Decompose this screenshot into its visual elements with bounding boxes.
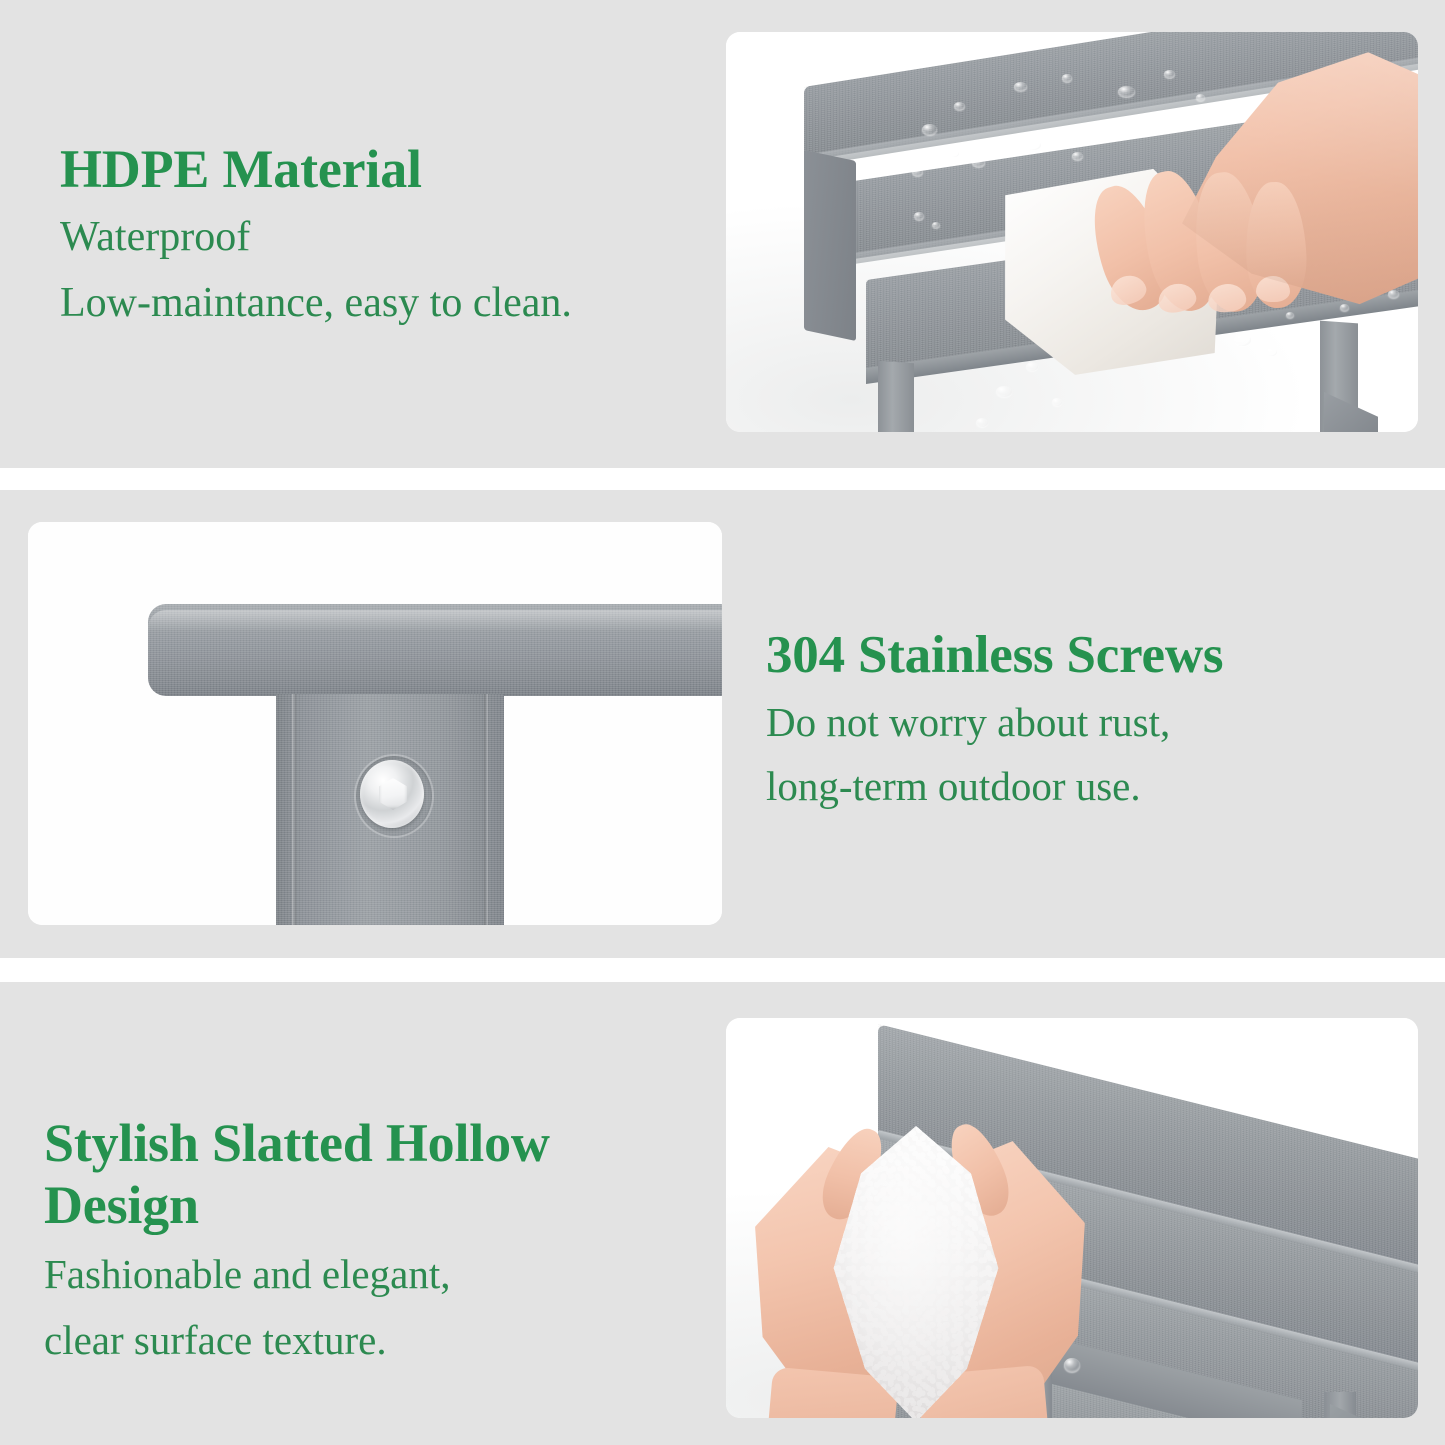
- water-droplet: [996, 386, 1012, 397]
- feature-image-card-hands-holding-hdpe-pellets: [726, 1018, 1418, 1418]
- feature-headline-stainless-screws: 304 Stainless Screws: [766, 624, 1406, 686]
- infographic-page: HDPE Material Waterproof Low-maintance, …: [0, 0, 1445, 1445]
- hdpe-horizontal-rail: [148, 604, 722, 696]
- feature-subline-hdpe-material-1: Waterproof: [60, 208, 700, 266]
- water-droplet: [1388, 290, 1399, 298]
- water-droplet: [914, 212, 924, 220]
- water-droplet: [976, 418, 988, 427]
- feature-text-block-hdpe-material: HDPE Material Waterproof Low-maintance, …: [60, 138, 700, 332]
- post-left-groove: [292, 694, 296, 925]
- feature-text-block-stainless-screws: 304 Stainless Screws Do not worry about …: [766, 624, 1406, 814]
- table-leg-left: [878, 361, 914, 432]
- water-droplet: [954, 102, 965, 110]
- water-droplet: [1118, 86, 1135, 97]
- screw-hole-highlight: [1064, 1358, 1080, 1372]
- panel-separator: [0, 468, 1445, 490]
- feature-subline-hdpe-material-2: Low-maintance, easy to clean.: [60, 274, 700, 332]
- water-droplet: [950, 150, 959, 157]
- feature-image-card-stainless-screw-joint-closeup: [28, 522, 722, 925]
- water-droplet: [1266, 348, 1277, 356]
- water-droplet: [912, 168, 923, 176]
- feature-panel-hdpe-material: HDPE Material Waterproof Low-maintance, …: [0, 0, 1445, 468]
- water-droplet: [972, 158, 985, 167]
- feature-headline-slatted-hollow-design: Stylish Slatted Hollow Design: [44, 1112, 704, 1236]
- feature-subline-stainless-screws-1: Do not worry about rust,: [766, 694, 1406, 750]
- feature-panel-slatted-hollow-design: Stylish Slatted Hollow Design Fashionabl…: [0, 982, 1445, 1445]
- table-side-apron: [804, 150, 856, 341]
- water-droplet: [1196, 94, 1205, 101]
- panel-separator: [0, 958, 1445, 982]
- water-droplet: [1052, 398, 1062, 406]
- water-droplet: [1286, 312, 1294, 318]
- water-droplet: [1340, 304, 1349, 311]
- feature-image-card-hand-wiping-wet-tabletop: [726, 32, 1418, 432]
- water-droplet: [1026, 362, 1038, 371]
- water-droplet: [1026, 140, 1041, 150]
- water-droplet: [1072, 152, 1083, 160]
- feature-panel-stainless-screws: 304 Stainless Screws Do not worry about …: [0, 490, 1445, 958]
- feature-text-block-slatted-hollow-design: Stylish Slatted Hollow Design Fashionabl…: [44, 1112, 704, 1368]
- feature-subline-slatted-hollow-design-2: clear surface texture.: [44, 1312, 704, 1368]
- water-droplet: [932, 222, 940, 228]
- feature-headline-hdpe-material: HDPE Material: [60, 138, 700, 200]
- post-right-groove: [484, 694, 488, 925]
- water-droplet: [1014, 82, 1027, 91]
- scene-hand-wiping-wet-tabletop: [726, 32, 1418, 432]
- scene-stainless-screw-joint: [28, 522, 722, 925]
- water-droplet: [1062, 74, 1072, 82]
- water-droplet: [1164, 70, 1175, 78]
- rail-highlight: [148, 610, 722, 632]
- water-droplet: [922, 124, 937, 135]
- scene-hands-holding-pellets: [726, 1018, 1418, 1418]
- water-droplet: [1234, 334, 1251, 346]
- feature-subline-stainless-screws-2: long-term outdoor use.: [766, 758, 1406, 814]
- feature-subline-slatted-hollow-design-1: Fashionable and elegant,: [44, 1246, 704, 1302]
